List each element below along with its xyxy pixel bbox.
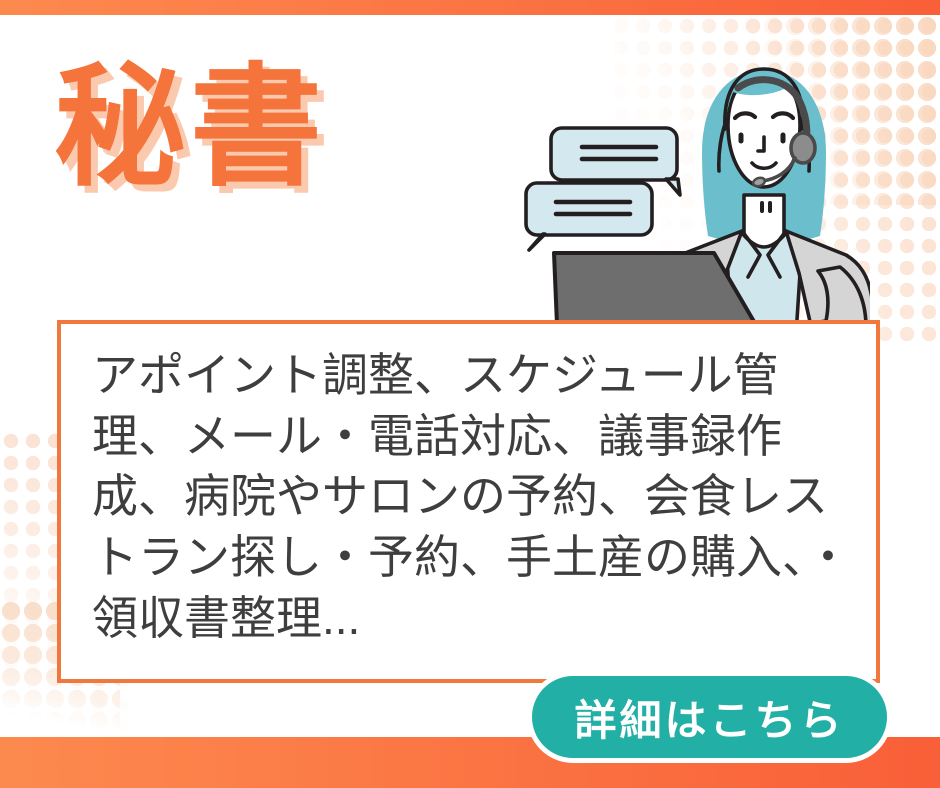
top-accent-bar — [0, 0, 940, 15]
speech-bubble-icon — [526, 183, 652, 250]
details-cta-button[interactable]: 詳細はこちら — [527, 671, 892, 763]
details-cta-label: 詳細はこちら — [574, 687, 844, 748]
secretary-service-banner: 秘書 — [0, 0, 940, 788]
description-text: アポイント調整、スケジュール管理、メール・電話対応、議事録作成、病院やサロンの予… — [92, 345, 862, 649]
woman-with-headset-at-laptop-illustration — [520, 55, 870, 355]
page-title: 秘書 — [54, 62, 326, 194]
